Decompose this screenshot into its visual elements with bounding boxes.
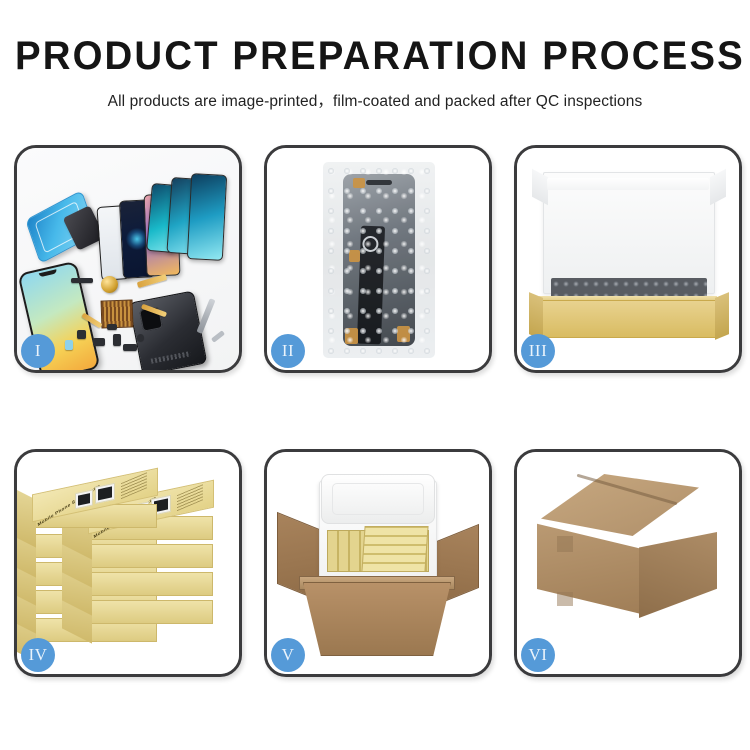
small-part-3	[93, 338, 105, 346]
tape-piece-2	[349, 250, 360, 262]
step-badge-5: V	[271, 638, 305, 672]
step-1-illustration	[17, 148, 239, 370]
carton-tape-lower	[557, 592, 573, 606]
step-4-illustration: Mobile Phone Spare Parts Mobile Phone Sp…	[17, 452, 239, 674]
box-screen-swatch-3	[75, 489, 93, 509]
product-preparation-infographic: PRODUCT PREPARATION PROCESS All products…	[0, 0, 750, 750]
box-stack: Mobile Phone Spare Parts Mobile Phone Sp…	[25, 468, 231, 664]
step-panel-6: VI	[514, 449, 742, 677]
small-part-1	[71, 278, 93, 283]
step-2-illustration	[267, 148, 489, 370]
header: PRODUCT PREPARATION PROCESS All products…	[0, 0, 750, 111]
step-panel-1: I	[14, 145, 242, 373]
box-screen-swatch-4	[95, 483, 115, 504]
step-panel-2: II	[264, 145, 492, 373]
kraft-inner-box	[539, 300, 719, 338]
page-title: PRODUCT PREPARATION PROCESS	[15, 36, 735, 76]
page-subtitle: All products are image-printed，film-coat…	[0, 89, 750, 111]
phone-back-cover	[129, 290, 208, 370]
stacked-box-right-2	[87, 544, 213, 568]
step-badge-6: VI	[521, 638, 555, 672]
gold-component	[101, 276, 118, 293]
stacked-box-right-3	[87, 572, 213, 596]
step-panel-3: III	[514, 145, 742, 373]
step-6-illustration	[517, 452, 739, 674]
repair-tool-tip	[211, 330, 225, 343]
foam-lid	[321, 474, 435, 524]
small-part-5	[123, 344, 137, 351]
bubble-wrap-bag	[323, 162, 435, 358]
small-part-7	[107, 324, 117, 330]
tape-piece-3	[345, 328, 358, 344]
box-spec-lines-back	[121, 472, 147, 499]
shipping-carton-open	[303, 582, 451, 656]
phone-screen-teal-3	[187, 173, 227, 261]
foam-liner	[547, 178, 709, 190]
white-box-lid	[543, 172, 715, 294]
stacked-box-labelled-back: Mobile Phone Spare Parts	[31, 504, 157, 528]
step-panel-5: V	[264, 449, 492, 677]
process-steps-grid: I II	[14, 145, 736, 671]
step-badge-3: III	[521, 334, 555, 368]
circuit-chip-grid	[101, 299, 134, 328]
tape-piece-4	[397, 326, 410, 342]
step-panel-4: Mobile Phone Spare Parts Mobile Phone Sp…	[14, 449, 242, 677]
small-part-4	[113, 334, 121, 346]
small-part-2	[77, 330, 86, 339]
step-3-illustration	[517, 148, 739, 370]
wrapped-screen-assembly	[343, 174, 415, 346]
step-badge-2: II	[271, 334, 305, 368]
small-part-8	[65, 340, 73, 350]
screen-flex-ribbon	[357, 226, 385, 345]
tape-piece-1	[353, 178, 365, 188]
repair-tweezers	[196, 298, 215, 334]
yellow-boxes-stack	[361, 526, 428, 572]
box-spec-lines-front	[177, 484, 203, 511]
step-5-illustration	[267, 452, 489, 674]
bubble-texture-overlay	[323, 162, 435, 358]
carton-tape-upper	[557, 536, 573, 552]
box-top-face-back: Mobile Phone Spare Parts	[32, 468, 158, 523]
small-part-6	[137, 334, 144, 341]
step-badge-4: IV	[21, 638, 55, 672]
step-badge-1: I	[21, 334, 55, 368]
stacked-box-right-4	[87, 600, 213, 624]
carton-side-face	[639, 532, 717, 618]
